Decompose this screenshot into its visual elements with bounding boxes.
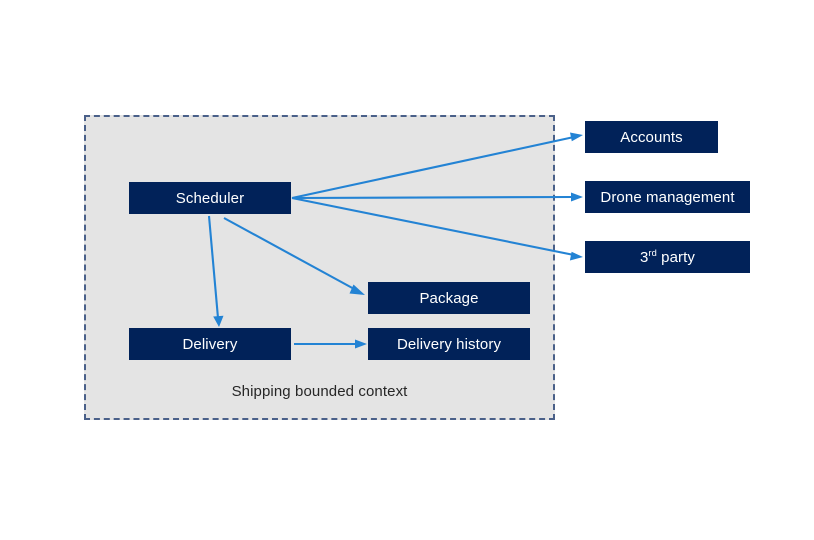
node-scheduler[interactable]: Scheduler [129, 182, 291, 214]
node-delivery-label: Delivery [183, 336, 238, 353]
node-scheduler-label: Scheduler [176, 190, 244, 207]
node-third-party[interactable]: 3rd party [585, 241, 750, 273]
node-third-party-label: 3rd party [640, 249, 695, 266]
node-package[interactable]: Package [368, 282, 530, 314]
node-accounts[interactable]: Accounts [585, 121, 718, 153]
diagram-canvas: Scheduler Delivery Package Delivery hist… [0, 0, 814, 540]
shipping-bounded-context-region [84, 115, 555, 420]
node-delivery-history[interactable]: Delivery history [368, 328, 530, 360]
node-drone-management[interactable]: Drone management [585, 181, 750, 213]
shipping-bounded-context-caption: Shipping bounded context [84, 383, 555, 400]
node-delivery-history-label: Delivery history [397, 336, 501, 353]
node-third-party-label-suffix: party [657, 249, 695, 266]
node-package-label: Package [419, 290, 478, 307]
node-drone-management-label: Drone management [600, 189, 734, 206]
node-third-party-label-sup: rd [648, 248, 656, 258]
node-accounts-label: Accounts [620, 129, 683, 146]
node-delivery[interactable]: Delivery [129, 328, 291, 360]
